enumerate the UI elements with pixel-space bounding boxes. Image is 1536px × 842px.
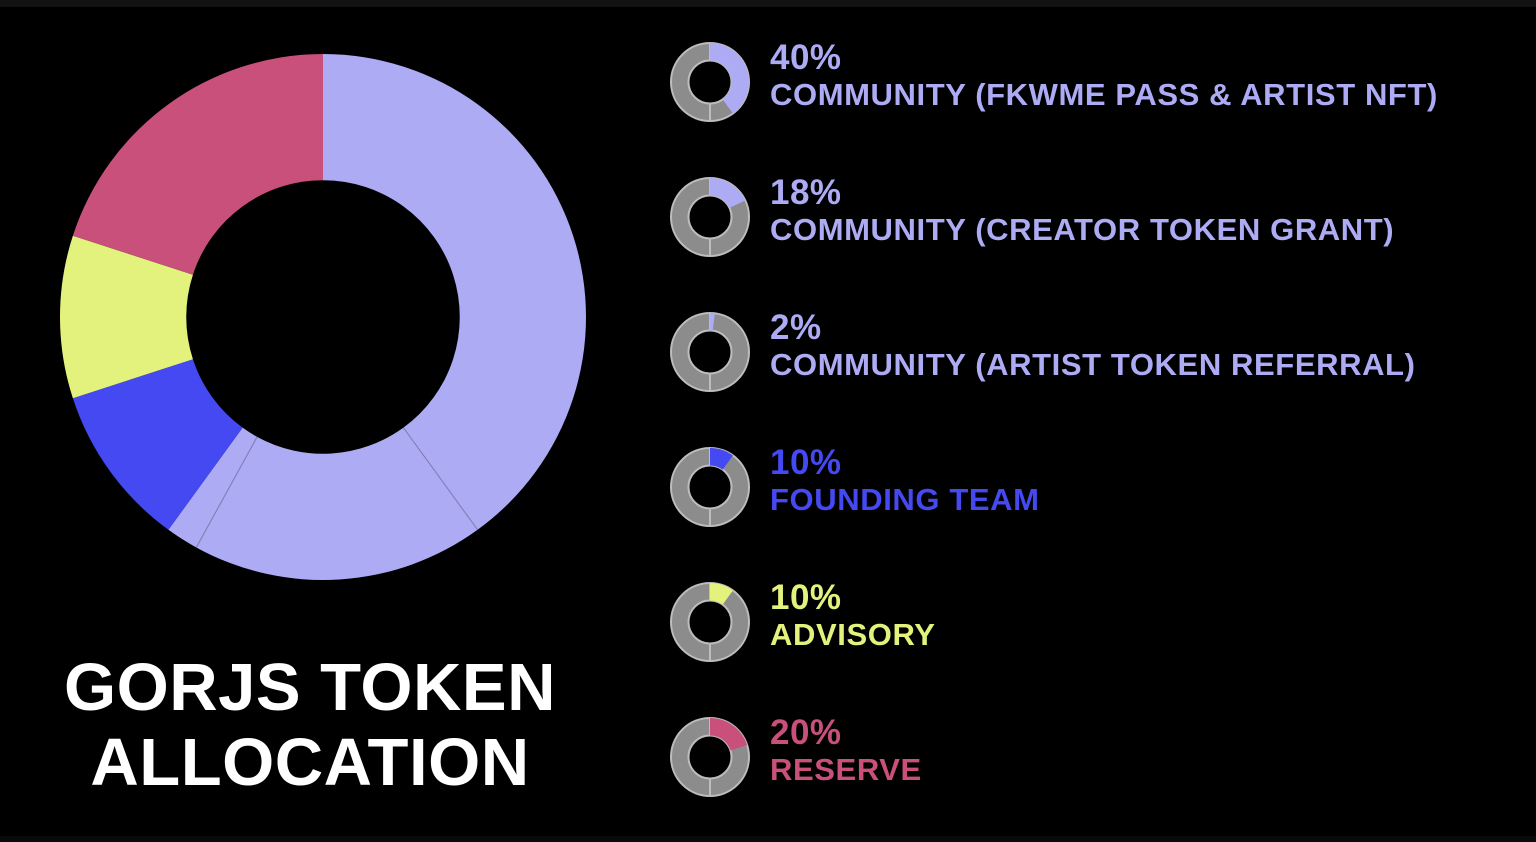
legend-text-group: 2%COMMUNITY (ARTIST TOKEN REFERRAL) <box>770 306 1416 384</box>
legend-percent: 10% <box>770 443 1040 482</box>
legend-item[interactable]: 20%RESERVE <box>668 711 1528 842</box>
legend-item[interactable]: 10%ADVISORY <box>668 576 1528 711</box>
mini-donut-track <box>671 583 749 661</box>
donut-svg <box>58 52 588 582</box>
legend-item[interactable]: 2%COMMUNITY (ARTIST TOKEN REFERRAL) <box>668 306 1528 441</box>
token-allocation-donut-chart <box>58 52 588 582</box>
legend-item[interactable]: 40%COMMUNITY (FKWME PASS & ARTIST NFT) <box>668 36 1528 171</box>
donut-progress-icon <box>668 175 752 259</box>
title-line-1: GORJS TOKEN <box>0 650 620 725</box>
letterbox-bottom <box>0 836 1536 842</box>
legend-percent: 18% <box>770 173 1394 212</box>
page-title: GORJS TOKEN ALLOCATION <box>0 650 620 800</box>
donut-progress-icon <box>668 40 752 124</box>
legend-label: COMMUNITY (CREATOR TOKEN GRANT) <box>770 212 1394 249</box>
legend-text-group: 10%ADVISORY <box>770 576 936 654</box>
mini-donut-track <box>671 313 749 391</box>
legend-label: COMMUNITY (ARTIST TOKEN REFERRAL) <box>770 347 1416 384</box>
mini-donut-track <box>671 448 749 526</box>
legend-text-group: 18%COMMUNITY (CREATOR TOKEN GRANT) <box>770 171 1394 249</box>
infographic-stage: GORJS TOKEN ALLOCATION 40%COMMUNITY (FKW… <box>0 0 1536 842</box>
legend-text-group: 10%FOUNDING TEAM <box>770 441 1040 519</box>
legend-label: COMMUNITY (FKWME PASS & ARTIST NFT) <box>770 77 1438 114</box>
mini-donut-progress <box>710 718 747 750</box>
legend-label: ADVISORY <box>770 617 936 654</box>
legend-item[interactable]: 10%FOUNDING TEAM <box>668 441 1528 576</box>
donut-progress-icon <box>668 310 752 394</box>
legend-percent: 10% <box>770 578 936 617</box>
legend-percent: 20% <box>770 713 922 752</box>
donut-progress-icon <box>668 580 752 664</box>
donut-progress-icon <box>668 715 752 799</box>
legend: 40%COMMUNITY (FKWME PASS & ARTIST NFT)18… <box>668 36 1528 842</box>
title-line-2: ALLOCATION <box>0 725 620 800</box>
legend-item[interactable]: 18%COMMUNITY (CREATOR TOKEN GRANT) <box>668 171 1528 306</box>
donut-progress-icon <box>668 445 752 529</box>
donut-segment <box>73 54 323 275</box>
chart-panel: GORJS TOKEN ALLOCATION <box>0 0 650 842</box>
legend-text-group: 40%COMMUNITY (FKWME PASS & ARTIST NFT) <box>770 36 1438 114</box>
legend-text-group: 20%RESERVE <box>770 711 922 789</box>
legend-label: FOUNDING TEAM <box>770 482 1040 519</box>
legend-percent: 2% <box>770 308 1416 347</box>
legend-label: RESERVE <box>770 752 922 789</box>
legend-percent: 40% <box>770 38 1438 77</box>
